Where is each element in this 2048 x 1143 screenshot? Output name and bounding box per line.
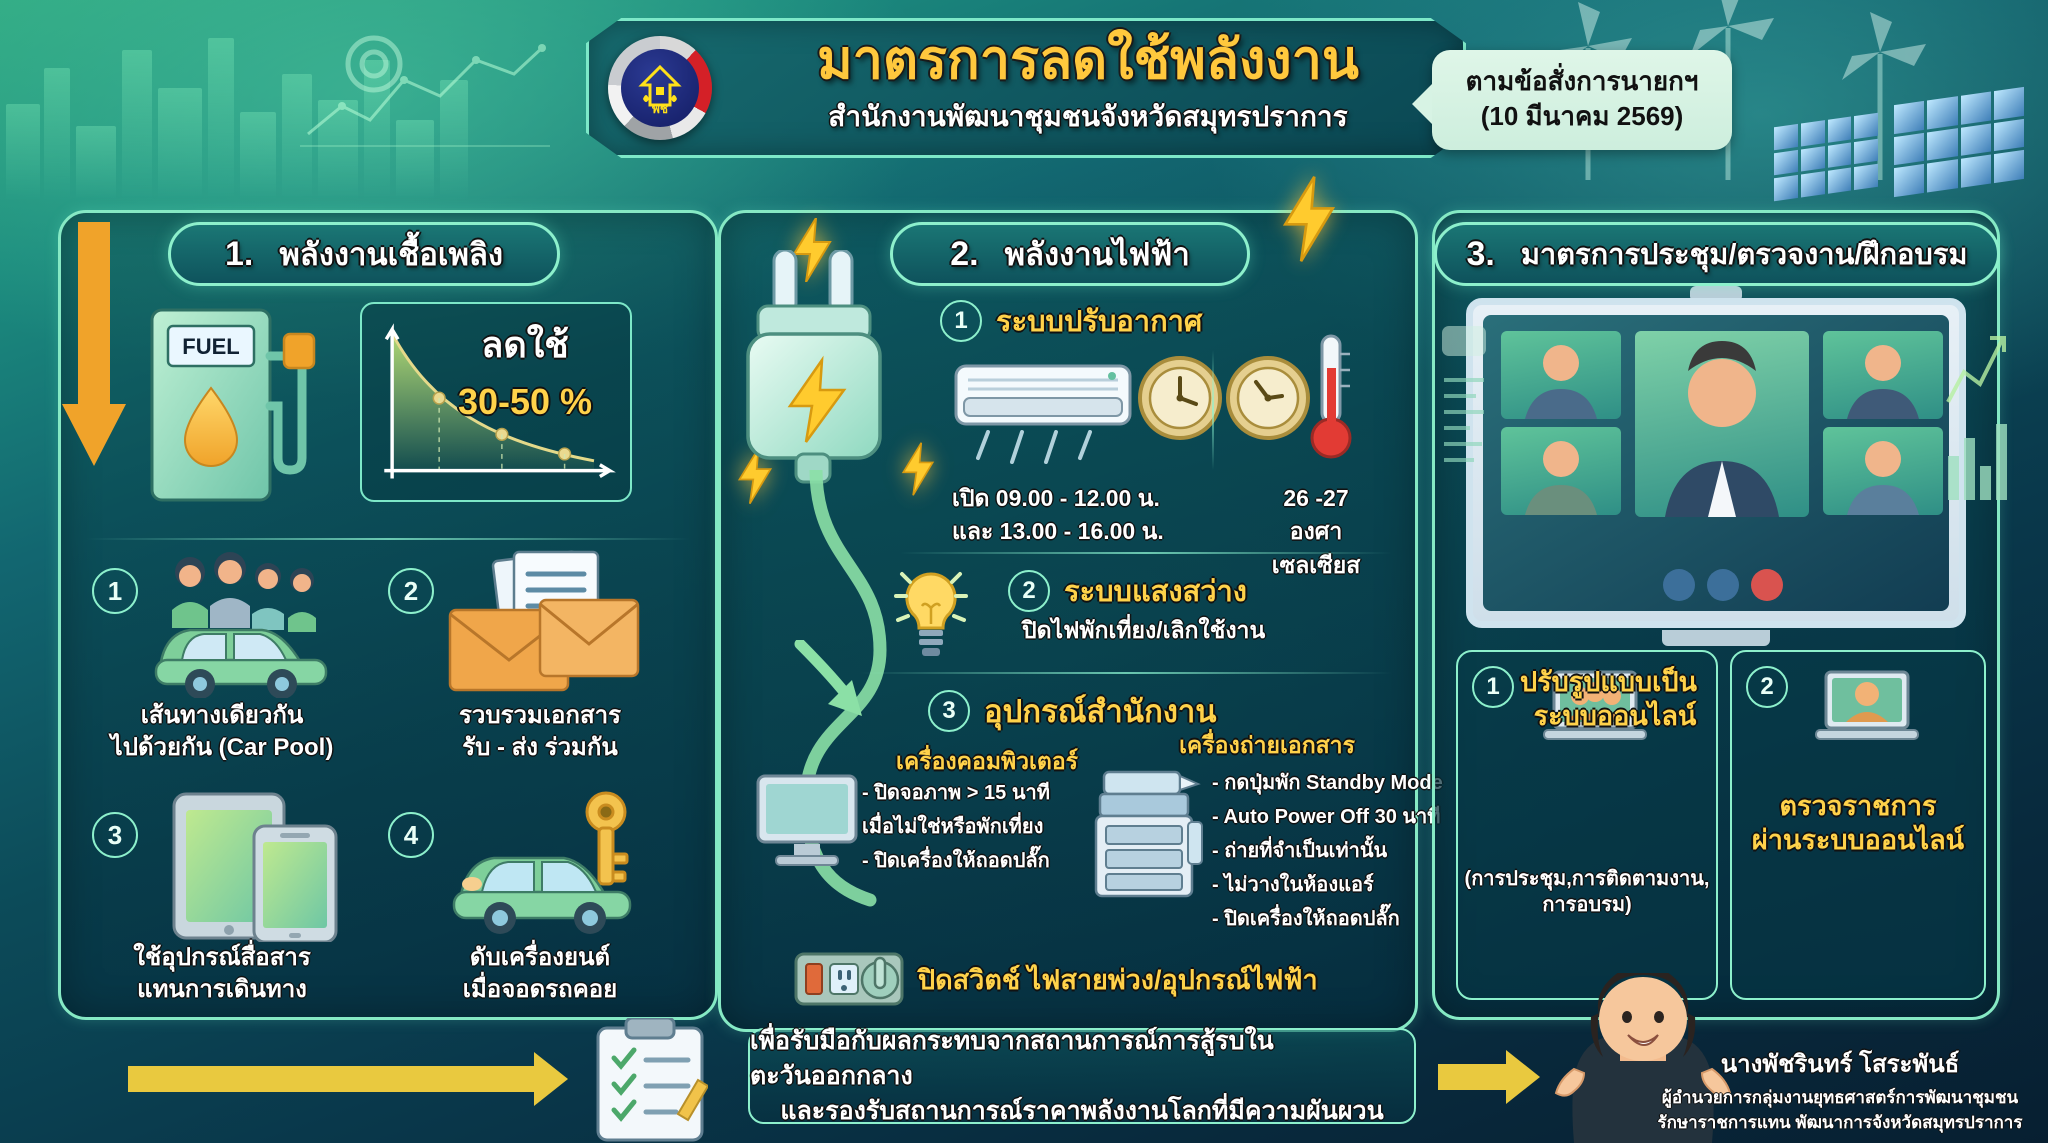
section-3-header: 3. มาตรการประชุม/ตรวจงาน/ฝึกอบรม — [1434, 222, 2000, 286]
item-2-caption-line2: รับ - ส่ง ร่วมกัน — [390, 732, 690, 763]
participant-tile-1 — [1501, 331, 1621, 419]
chat-bubbles-decoration — [1438, 320, 1490, 500]
documents-envelope-icon — [436, 548, 642, 698]
participant-tile-main — [1635, 331, 1809, 517]
item-4-caption-line1: ดับเครื่องยนต์ — [390, 942, 690, 973]
participant-tile-4 — [1823, 427, 1943, 515]
growth-chart-decoration — [1944, 316, 2008, 516]
sub-3-number: 3 — [928, 690, 970, 732]
page-subtitle: สำนักงานพัฒนาชุมชนจังหวัดสมุทรปราการ — [726, 95, 1450, 139]
infographic-root: พช มาตรการลดใช้พลังงาน สำนักงานพัฒนาชุมช… — [0, 0, 2048, 1143]
banner-line1: เพื่อรับมือกับผลกระทบจากสถานการณ์การสู้ร… — [750, 1024, 1414, 1094]
computer-title: เครื่องคอมพิวเตอร์ — [842, 744, 1132, 780]
sub-2-header: 2 ระบบแสงสว่าง — [1008, 568, 1247, 614]
section-2-title: พลังงานไฟฟ้า — [1005, 229, 1190, 279]
desktop-computer-icon — [752, 770, 862, 870]
mic-icon[interactable] — [1663, 569, 1695, 601]
checklist-clipboard-icon — [592, 1018, 708, 1143]
tablet-phone-icon — [168, 790, 348, 942]
ac-time-line2: และ 13.00 - 16.00 น. — [952, 515, 1164, 548]
participant-tile-2 — [1501, 427, 1621, 515]
air-conditioner-icon — [952, 362, 1134, 472]
item-3-caption-line1: ใช้อุปกรณ์สื่อสาร — [72, 942, 372, 973]
item-3-caption-line2: แทนการเดินทาง — [72, 974, 372, 1005]
arrow-head-left — [534, 1052, 568, 1106]
copier-title: เครื่องถ่ายเอกสาร — [1122, 728, 1412, 764]
item-3-number: 3 — [92, 812, 138, 858]
ac-temperature: 26 -27 องศาเซลเซียส — [1250, 482, 1382, 582]
solar-panel-decoration-2 — [1774, 113, 1878, 202]
section-2-number: 2. — [950, 235, 978, 274]
date-callout-line1: ตามข้อสั่งการนายกฯ — [1448, 64, 1716, 99]
sub-1-header: 1 ระบบปรับอากาศ — [940, 298, 1202, 344]
section-3-item-1-note: (การประชุม,การติดตามงาน, การอบรม) — [1458, 866, 1716, 918]
section-1-title: พลังงานเชื้อเพลิง — [279, 229, 503, 279]
section-3-item-2-title: ตรวจราชการ ผ่านระบบออนไลน์ — [1736, 790, 1980, 858]
arrow-right-icon-right — [1438, 1064, 1510, 1090]
thermometer-icon — [1300, 330, 1362, 466]
video-conference-icon — [1466, 298, 1966, 628]
banner-line2: และรองรับสถานการณ์ราคาพลังงานโลกที่มีควา… — [780, 1094, 1383, 1129]
section-1-number: 1. — [225, 235, 253, 274]
ac-temp-line1: 26 -27 — [1250, 482, 1382, 515]
section-3-number: 3. — [1466, 235, 1494, 274]
signature-role-line1: ผู้อำนวยการกลุ่มงานยุทธศาสตร์การพัฒนาชุม… — [1650, 1087, 2030, 1110]
carpool-icon — [142, 548, 356, 698]
section-3-title: มาตรการประชุม/ตรวจงาน/ฝึกอบรม — [1521, 231, 1968, 277]
section-3-item-2-number: 2 — [1746, 666, 1788, 708]
item-1-caption-line2: ไปด้วยกัน (Car Pool) — [72, 732, 372, 763]
item-1-number: 1 — [92, 568, 138, 614]
ac-schedule: เปิด 09.00 - 12.00 น. และ 13.00 - 16.00 … — [952, 482, 1164, 549]
page-title: มาตรการลดใช้พลังงาน — [726, 32, 1450, 89]
reduce-label: ลดใช้ — [430, 316, 620, 373]
signature-name: นางพัชรินทร์ โสระพันธ์ — [1650, 1044, 2030, 1083]
end-call-icon[interactable] — [1751, 569, 1783, 601]
camera-icon[interactable] — [1707, 569, 1739, 601]
city-skyline-decoration — [0, 0, 560, 200]
item-4-caption-line2: เมื่อจอดรถคอย — [390, 974, 690, 1005]
sub-2-title: ระบบแสงสว่าง — [1064, 568, 1247, 614]
ac-temp-line2: องศาเซลเซียส — [1250, 515, 1382, 582]
reduce-value: 30-50 % — [430, 381, 620, 423]
participant-tile-3 — [1823, 331, 1943, 419]
sub-1-number: 1 — [940, 300, 982, 342]
photocopier-icon — [1092, 768, 1204, 902]
arrow-right-icon-left — [128, 1066, 538, 1092]
svg-text:พช: พช — [652, 102, 668, 116]
sub-1-title: ระบบปรับอากาศ — [996, 298, 1202, 344]
section-3-item-1-number: 1 — [1472, 666, 1514, 708]
background-line-chart-decoration — [300, 34, 550, 154]
header: พช มาตรการลดใช้พลังงาน สำนักงานพัฒนาชุมช… — [586, 18, 1466, 158]
fuel-pump-icon: FUEL — [134, 296, 334, 514]
section-3-item-1-note-line2: การอบรม) — [1458, 892, 1716, 918]
sub-2-number: 2 — [1008, 570, 1050, 612]
arrow-head-right — [1506, 1050, 1540, 1104]
date-callout: ตามข้อสั่งการนายกฯ (10 มีนาคม 2569) — [1432, 50, 1732, 150]
monitor-stand — [1662, 630, 1770, 646]
item-2-caption-line1: รวบรวมเอกสาร — [390, 700, 690, 731]
bottom-banner: เพื่อรับมือกับผลกระทบจากสถานการณ์การสู้ร… — [748, 1028, 1416, 1124]
call-controls — [1633, 567, 1813, 603]
lightning-bolt-icon-4 — [1280, 176, 1338, 262]
fuel-label: FUEL — [182, 334, 239, 359]
signature-block: นางพัชรินทร์ โสระพันธ์ ผู้อำนวยการกลุ่มง… — [1650, 1044, 2030, 1135]
laptop-person-icon — [1812, 668, 1922, 754]
section-2-header: 2. พลังงานไฟฟ้า — [890, 222, 1250, 286]
item-1-caption-line1: เส้นทางเดียวกัน — [72, 700, 372, 731]
power-switch-icon — [792, 946, 906, 1010]
item-4-number: 4 — [388, 812, 434, 858]
ac-time-line1: เปิด 09.00 - 12.00 น. — [952, 482, 1164, 515]
car-key-icon — [438, 788, 656, 938]
date-callout-line2: (10 มีนาคม 2569) — [1448, 99, 1716, 134]
switch-strip-text: ปิดสวิตช์ ไฟสายพ่วง/อุปกรณ์ไฟฟ้า — [918, 958, 1318, 1001]
item-2-number: 2 — [388, 568, 434, 614]
sub-2-note: ปิดไฟพักเที่ยง/เลิกใช้งาน — [1022, 614, 1265, 647]
reduction-caption: ลดใช้ 30-50 % — [430, 316, 620, 423]
section-3-item-2-title-line1: ตรวจราชการ — [1736, 790, 1980, 824]
cable-arrow-icon — [790, 640, 880, 730]
down-arrow-icon — [62, 222, 126, 472]
government-seal-icon: พช — [608, 36, 712, 140]
section-3-item-1-title-line1: ปรับรูปแบบเป็น — [1520, 666, 1710, 700]
light-bulb-icon — [888, 562, 974, 660]
solar-panel-decoration — [1894, 87, 2024, 197]
section-3-item-2-title-line2: ผ่านระบบออนไลน์ — [1736, 824, 1980, 858]
signature-role-line2: รักษาราชการแทน พัฒนาการจังหวัดสมุทรปรากา… — [1650, 1112, 2030, 1135]
section-3-item-1-title: ปรับรูปแบบเป็น ระบบออนไลน์ — [1520, 666, 1710, 734]
section-3-item-1-note-line1: (การประชุม,การติดตามงาน, — [1458, 866, 1716, 892]
gear-decoration — [332, 22, 416, 106]
section-3-item-1-title-line2: ระบบออนไลน์ — [1520, 700, 1710, 734]
section-1-header: 1. พลังงานเชื้อเพลิง — [168, 222, 560, 286]
